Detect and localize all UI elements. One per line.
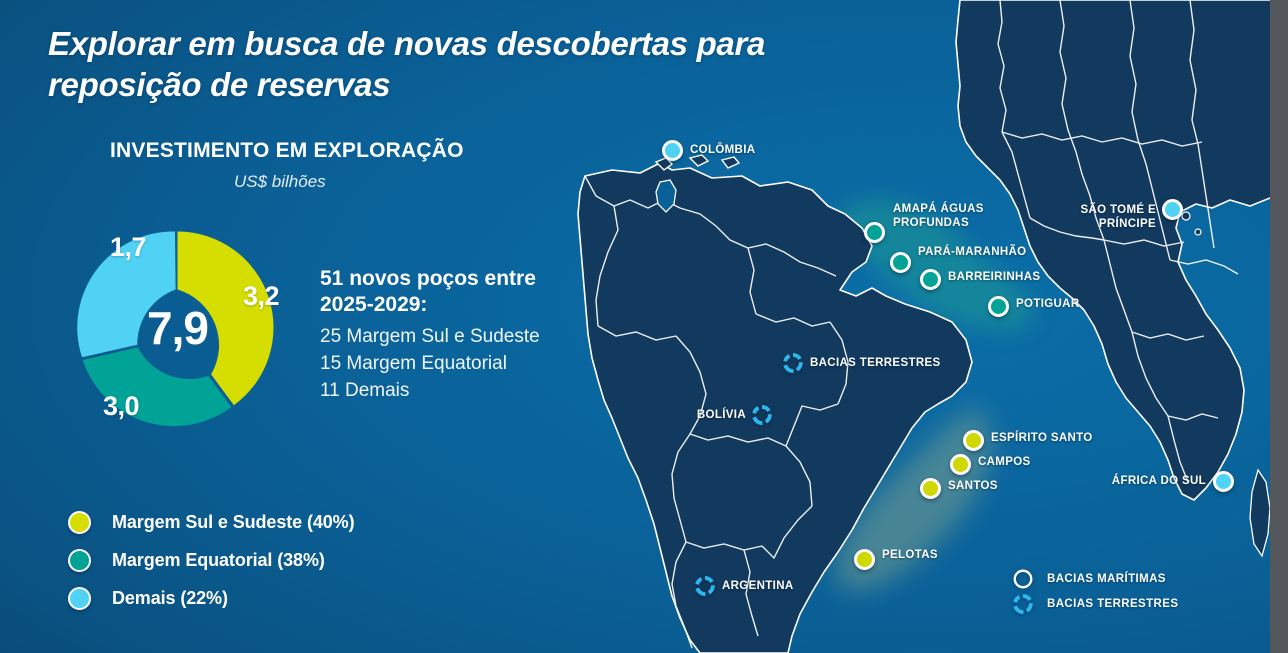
map-label-africa-do-sul: ÁFRICA DO SUL <box>1100 475 1206 489</box>
legend-item-label: Margem Sul e Sudeste (40%) <box>112 512 354 533</box>
map-label-sao-tome-e-principe: SÃO TOMÉ E PRÍNCIPE <box>1020 204 1156 232</box>
map-marker-pelotas[interactable] <box>854 549 875 570</box>
map-marker-sao-tome-e-principe[interactable] <box>1162 199 1183 220</box>
map-label-argentina: ARGENTINA <box>722 580 794 594</box>
map-marker-bolivia[interactable] <box>751 404 773 426</box>
map-label-espirito-santo: ESPÍRITO SANTO <box>991 432 1093 446</box>
chart-title: INVESTIMENTO EM EXPLORAÇÃO <box>110 139 464 163</box>
map-legend-item-bacias-maritimas[interactable]: BACIAS MARÍTIMAS <box>1012 566 1178 591</box>
map-marker-barreirinhas[interactable] <box>920 269 941 290</box>
map-label-amapa-aguas-profundas: AMAPÁ ÁGUAS PROFUNDAS <box>893 203 984 231</box>
legend-swatch-yellow <box>68 511 91 534</box>
legend-swatch-teal <box>68 549 91 572</box>
map-marker-para-maranhao[interactable] <box>890 252 911 273</box>
legend-item-demais[interactable]: Demais (22%) <box>68 579 354 617</box>
map-marker-espirito-santo[interactable] <box>963 430 984 451</box>
legend-item-label: Margem Equatorial (38%) <box>112 550 325 571</box>
list-item: 11 Demais <box>320 378 570 405</box>
map-marker-santos[interactable] <box>920 478 941 499</box>
map-label-potiguar: POTIGUAR <box>1016 298 1080 312</box>
list-item: 15 Margem Equatorial <box>320 351 570 378</box>
map-marker-argentina[interactable] <box>694 575 716 597</box>
donut-value-label-yellow: 3,2 <box>243 281 279 312</box>
map-marker-bacias-terrestres-brasil[interactable] <box>782 352 804 374</box>
map-label-colombia: COLÔMBIA <box>690 144 755 158</box>
map-legend-item-label: BACIAS MARÍTIMAS <box>1047 573 1166 585</box>
map-marker-colombia[interactable] <box>662 140 683 161</box>
list-item: 25 Margem Sul e Sudeste <box>320 324 570 351</box>
chart-units-label: US$ bilhões <box>234 172 326 192</box>
legend-swatch-cyan <box>68 587 91 610</box>
map-marker-africa-do-sul[interactable] <box>1213 471 1234 492</box>
chart-legend: Margem Sul e Sudeste (40%) Margem Equato… <box>68 503 354 617</box>
map-label-bacias-terrestres-brasil: BACIAS TERRESTRES <box>810 357 941 371</box>
right-edge-strip <box>1270 0 1288 653</box>
map-label-bolivia: BOLÍVIA <box>660 409 746 423</box>
map-label-campos: CAMPOS <box>978 456 1031 470</box>
map-label-para-maranhao: PARÁ-MARANHÃO <box>918 246 1026 260</box>
map-legend: BACIAS MARÍTIMAS BACIAS TERRESTRES <box>1012 566 1178 616</box>
legend-item-margem-sul-sudeste[interactable]: Margem Sul e Sudeste (40%) <box>68 503 354 541</box>
wells-breakdown-list: 25 Margem Sul e Sudeste 15 Margem Equato… <box>320 324 570 405</box>
map-legend-item-label: BACIAS TERRESTRES <box>1047 598 1178 610</box>
wells-summary: 51 novos poços entre 2025-2029: 25 Marge… <box>320 266 570 405</box>
map-label-pelotas: PELOTAS <box>882 549 938 563</box>
madagascar-sliver <box>1250 470 1270 556</box>
legend-item-margem-equatorial[interactable]: Margem Equatorial (38%) <box>68 541 354 579</box>
map-label-barreirinhas: BARREIRINHAS <box>948 271 1040 285</box>
donut-value-label-cyan: 1,7 <box>110 232 146 263</box>
map-marker-potiguar[interactable] <box>988 296 1009 317</box>
legend-item-label: Demais (22%) <box>112 588 228 609</box>
map-marker-campos[interactable] <box>950 454 971 475</box>
sao-tome-islands <box>1182 212 1201 235</box>
donut-value-label-teal: 3,0 <box>103 391 139 422</box>
donut-chart: 7,9 <box>55 205 300 450</box>
wells-title: 51 novos poços entre 2025-2029: <box>320 266 570 318</box>
map-marker-amapa-aguas-profundas[interactable] <box>864 222 885 243</box>
segmented-ring-icon <box>1012 593 1034 615</box>
infographic-root: Explorar em busca de novas descobertas p… <box>0 0 1288 653</box>
hollow-ring-icon <box>1012 568 1034 590</box>
map-legend-item-bacias-terrestres[interactable]: BACIAS TERRESTRES <box>1012 591 1178 616</box>
map-label-santos: SANTOS <box>948 480 998 494</box>
page-title: Explorar em busca de novas descobertas p… <box>48 24 908 106</box>
